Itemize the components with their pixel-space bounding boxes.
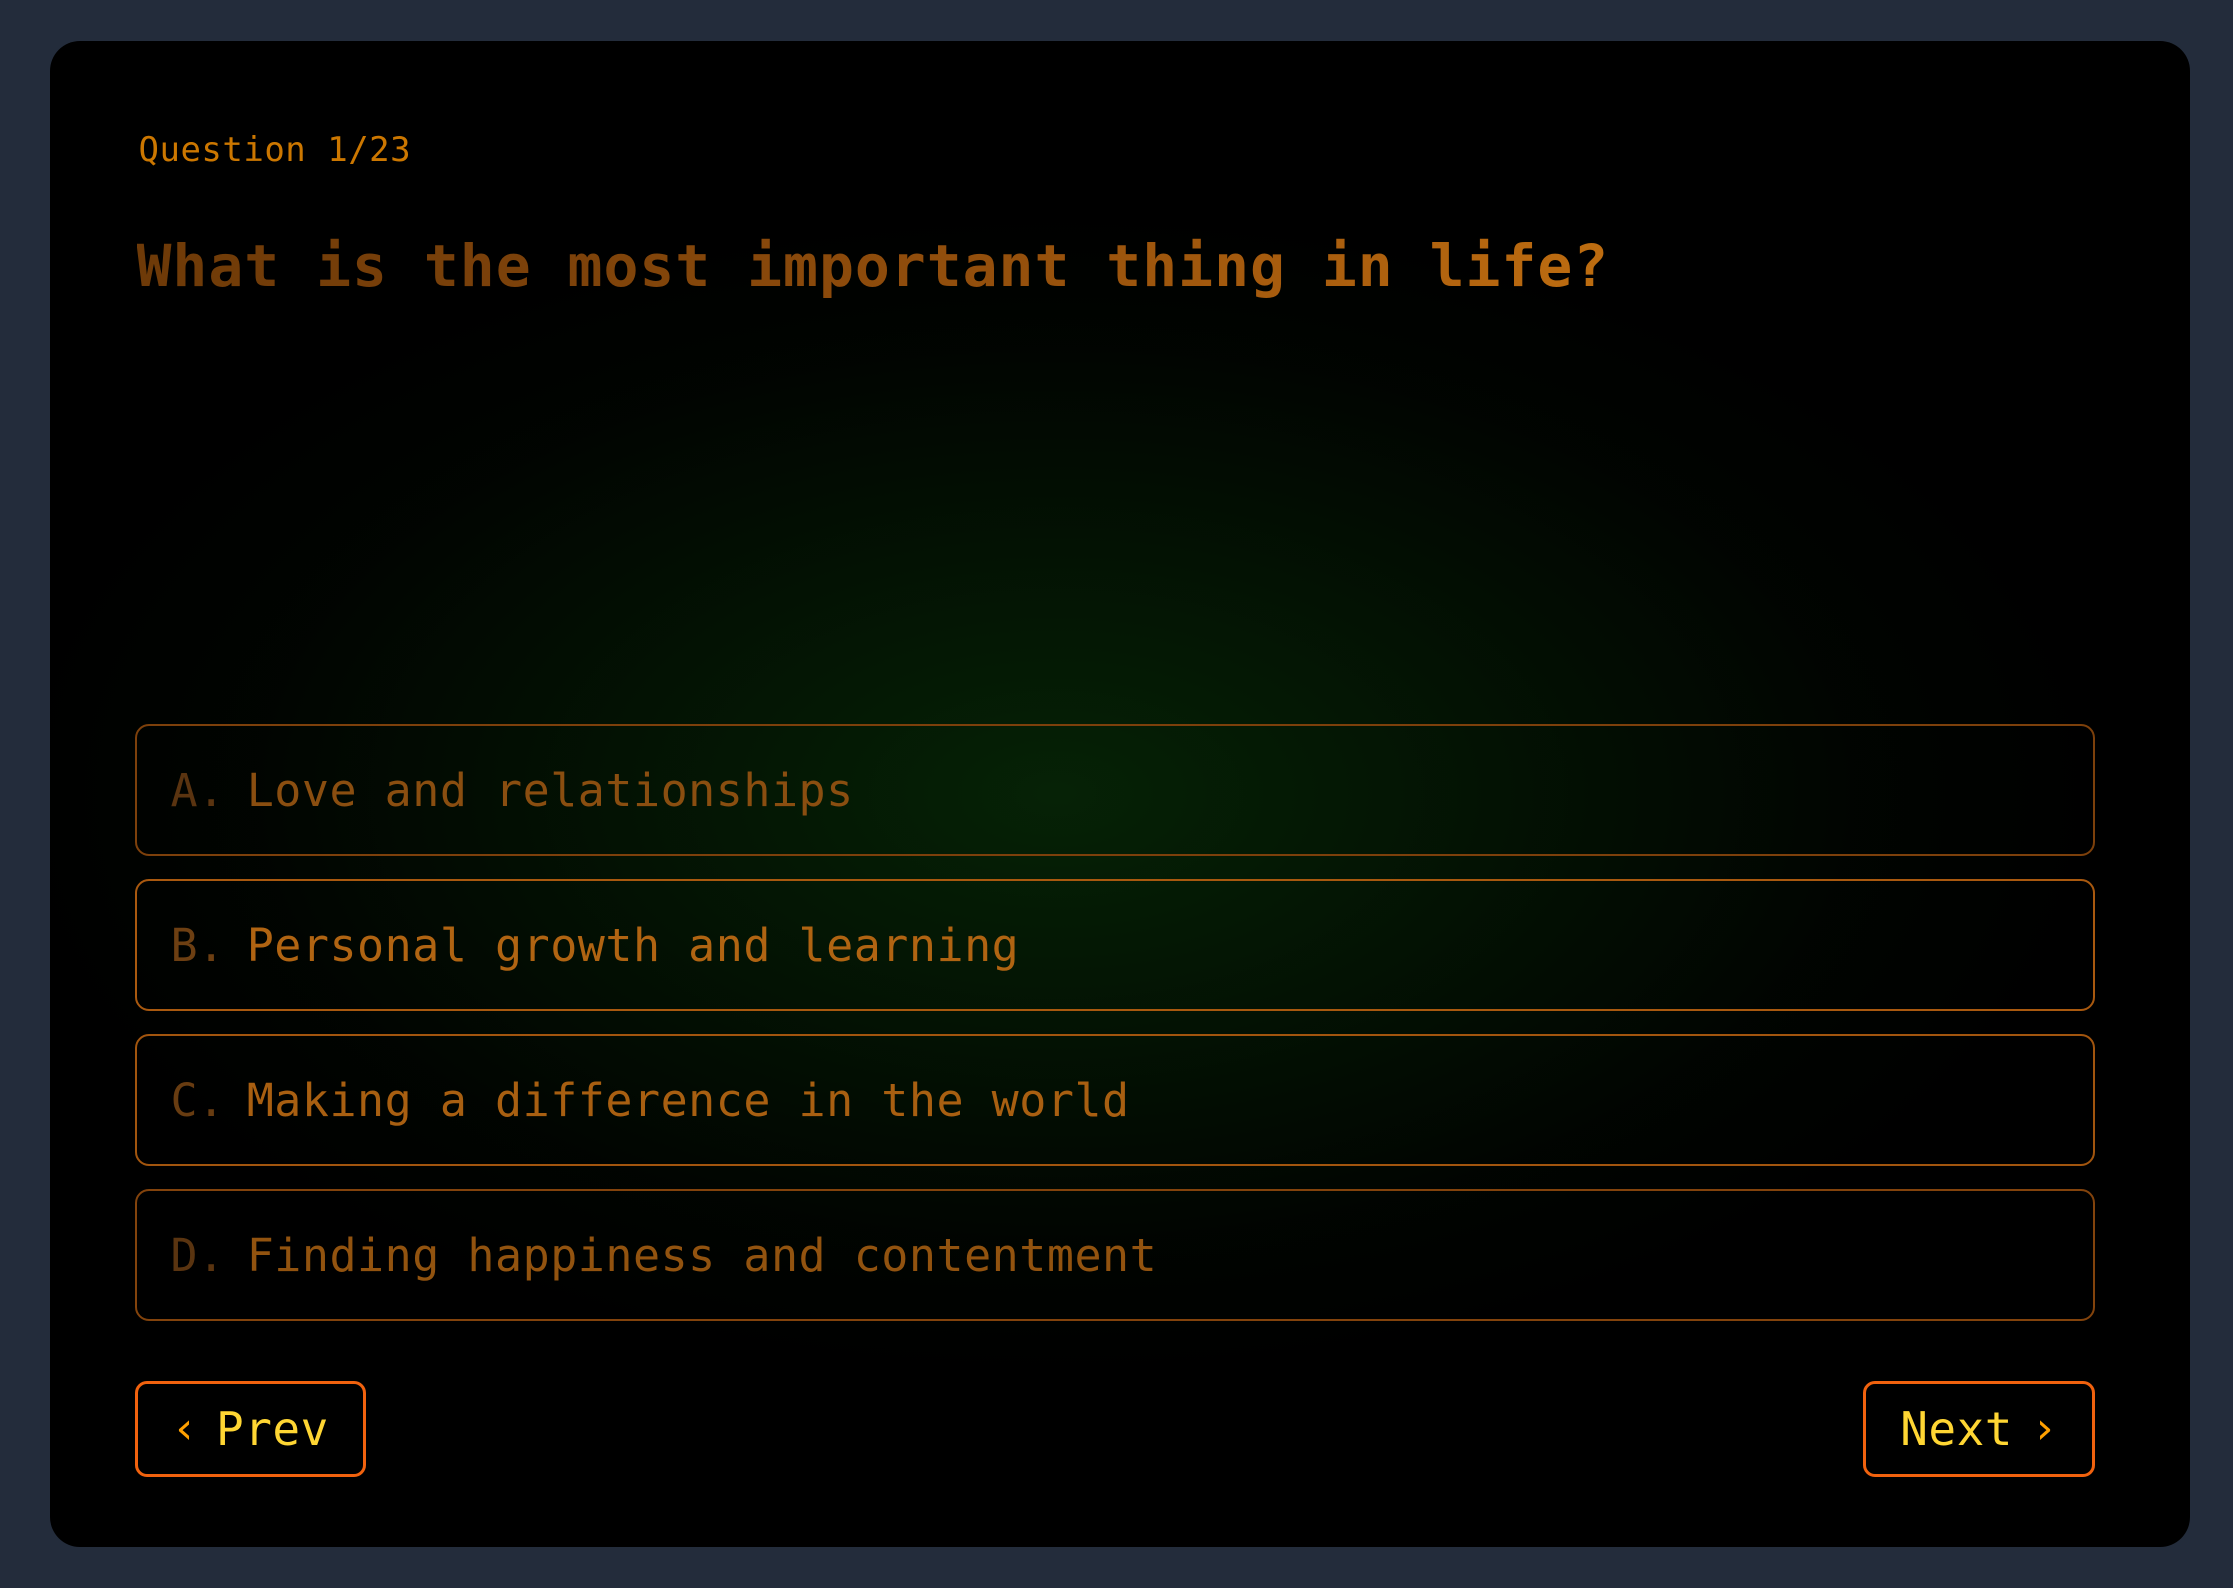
content-spacer	[135, 300, 2095, 724]
question-title: What is the most important thing in life…	[137, 233, 2095, 300]
answer-options-list: A. Love and relationships B. Personal gr…	[135, 724, 2095, 1321]
next-button[interactable]: Next ›	[1863, 1381, 2094, 1477]
navigation-bar: ‹ Prev Next ›	[135, 1381, 2095, 1477]
answer-option-a-letter: A.	[171, 768, 225, 813]
quiz-card: Question 1/23 What is the most important…	[50, 41, 2190, 1547]
answer-option-d-letter: D.	[171, 1233, 225, 1278]
answer-option-d[interactable]: D. Finding happiness and contentment	[135, 1189, 2095, 1321]
answer-option-b[interactable]: B. Personal growth and learning	[135, 879, 2095, 1011]
answer-option-b-letter: B.	[171, 923, 225, 968]
answer-option-c[interactable]: C. Making a difference in the world	[135, 1034, 2095, 1166]
chevron-right-icon: ›	[2031, 1407, 2058, 1451]
chevron-left-icon: ‹	[172, 1407, 199, 1451]
question-counter: Question 1/23	[139, 133, 2095, 167]
answer-option-c-label: Making a difference in the world	[247, 1078, 1130, 1123]
next-button-label: Next	[1900, 1406, 2013, 1452]
answer-option-d-label: Finding happiness and contentment	[247, 1233, 1158, 1278]
prev-button[interactable]: ‹ Prev	[135, 1381, 366, 1477]
answer-option-a-label: Love and relationships	[247, 768, 854, 813]
answer-option-c-letter: C.	[171, 1078, 225, 1123]
answer-option-b-label: Personal growth and learning	[247, 923, 1020, 968]
prev-button-label: Prev	[216, 1406, 329, 1452]
answer-option-a[interactable]: A. Love and relationships	[135, 724, 2095, 856]
